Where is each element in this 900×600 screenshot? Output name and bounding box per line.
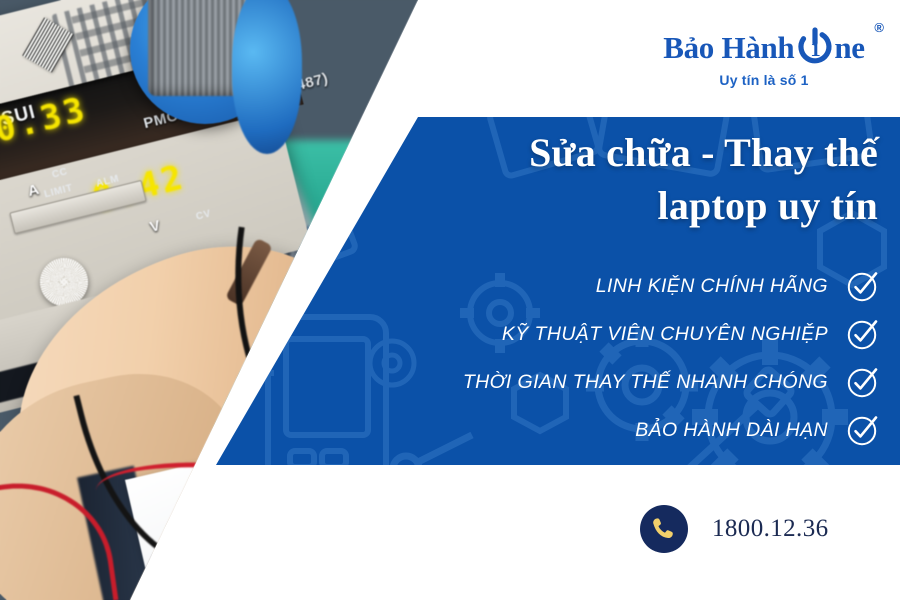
logo-text-ne: ne xyxy=(834,32,864,63)
brand-logo[interactable]: Bảo Hành 1 ne ® Uy tín là số 1 xyxy=(646,24,882,100)
feature-label: KỸ THUẬT VIÊN CHUYÊN NGHIỆP xyxy=(502,323,828,346)
check-circle-icon xyxy=(846,413,880,447)
list-item: BẢO HÀNH DÀI HẠN xyxy=(260,406,880,454)
feature-label: BẢO HÀNH DÀI HẠN xyxy=(635,419,828,442)
logo-tagline: Uy tín là số 1 xyxy=(646,72,882,88)
check-circle-icon xyxy=(846,269,880,303)
feature-label: THỜI GIAN THAY THẾ NHANH CHÓNG xyxy=(463,371,828,394)
registered-trademark-icon: ® xyxy=(874,20,884,35)
power-button-one-icon: 1 xyxy=(795,27,835,67)
feature-label: LINH KIỆN CHÍNH HÃNG xyxy=(596,275,828,298)
feature-list: LINH KIỆN CHÍNH HÃNG KỸ THUẬT VIÊN CHUYÊ… xyxy=(260,262,880,454)
check-circle-icon xyxy=(846,317,880,351)
list-item: LINH KIỆN CHÍNH HÃNG xyxy=(260,262,880,310)
logo-text-baohanh: Bảo Hành xyxy=(663,32,794,63)
banner-root: KIKUSUI PMC18-5A5 (SPEC20487) 0.33 0.42 … xyxy=(0,0,900,600)
svg-text:1: 1 xyxy=(811,37,822,61)
headline-line-2: laptop uy tín xyxy=(358,179,878,232)
phone-handset-icon[interactable] xyxy=(640,505,688,553)
list-item: THỜI GIAN THAY THẾ NHANH CHÓNG xyxy=(260,358,880,406)
list-item: KỸ THUẬT VIÊN CHUYÊN NGHIỆP xyxy=(260,310,880,358)
headline-line-1: Sửa chữa - Thay thế xyxy=(358,126,878,179)
page-title: Sửa chữa - Thay thế laptop uy tín xyxy=(358,126,878,232)
phone-number[interactable]: 1800.12.36 xyxy=(712,515,829,543)
contact-phone[interactable]: 1800.12.36 xyxy=(640,505,829,553)
logo-wordmark: Bảo Hành 1 ne ® xyxy=(646,24,882,70)
check-circle-icon xyxy=(846,365,880,399)
